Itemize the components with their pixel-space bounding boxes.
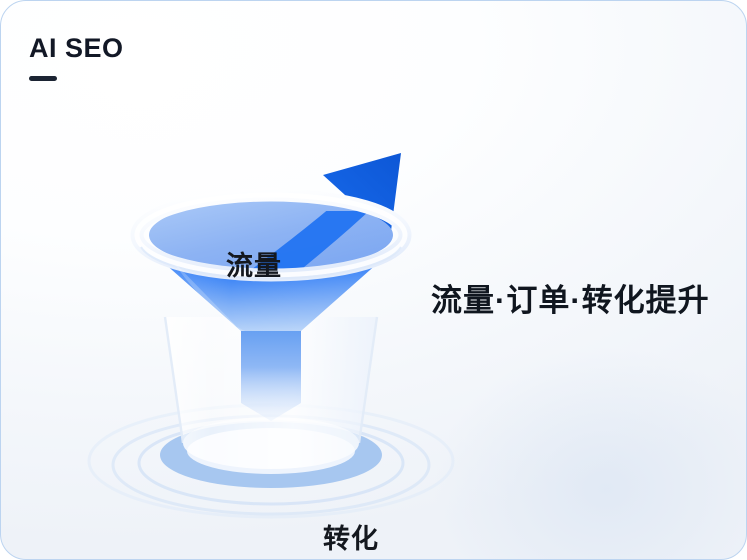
page-title: AI SEO (29, 35, 124, 62)
funnel-illustration: 流量 转化 (101, 91, 441, 521)
headline-text: 流量·订单·转化提升 (431, 275, 710, 320)
funnel-stem (241, 323, 301, 421)
title-underline-rule (29, 76, 57, 81)
label-conversion: 转化 (323, 517, 379, 556)
funnel-svg (101, 91, 441, 521)
title-block: AI SEO (29, 35, 124, 81)
label-traffic: 流量 (226, 244, 282, 283)
slide-canvas: AI SEO 流量·订单·转化提升 (0, 0, 747, 560)
